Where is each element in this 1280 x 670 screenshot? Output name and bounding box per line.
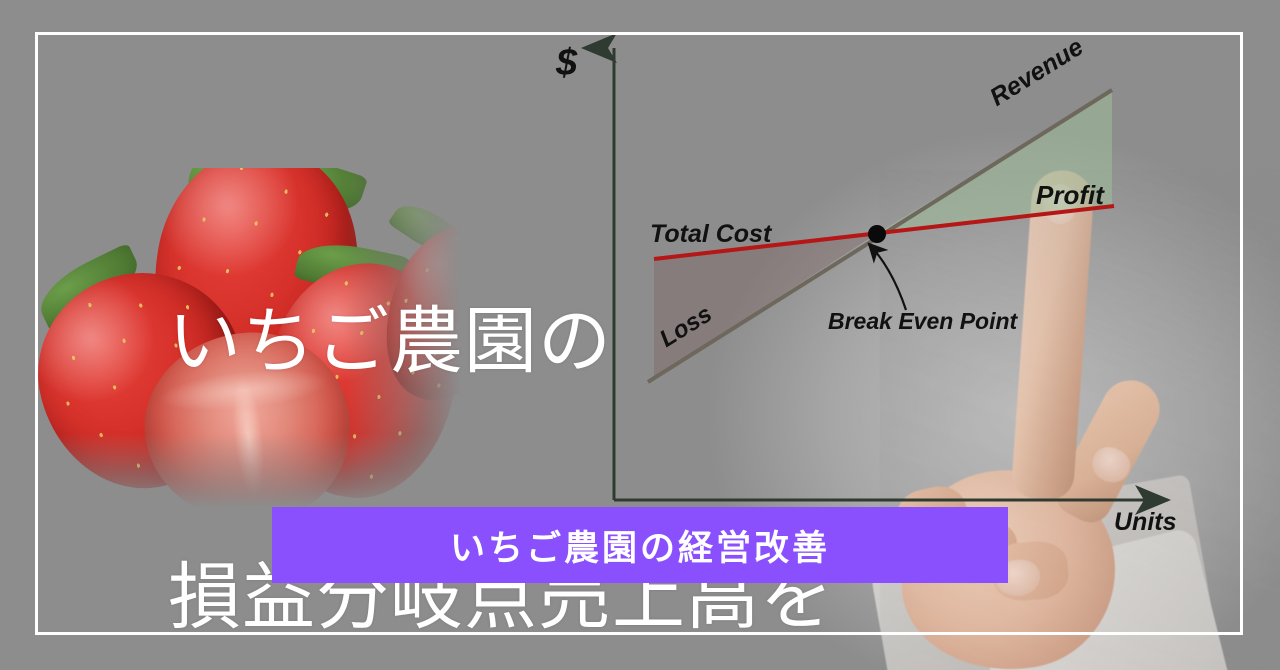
page-title: いちご農園の 損益分岐点売上高を 計算する方法 <box>168 128 834 670</box>
headline-line-1: いちご農園の <box>168 299 834 384</box>
break-even-point-label: Break Even Point <box>828 308 1017 335</box>
y-axis-label: $ <box>556 42 577 85</box>
break-even-leader <box>869 244 906 310</box>
profit-label: Profit <box>1036 180 1104 211</box>
x-axis-label: Units <box>1114 508 1177 537</box>
subtitle-banner: いちご農園の経営改善 <box>272 507 1008 583</box>
subtitle-banner-text: いちご農園の経営改善 <box>450 520 830 571</box>
slide-canvas: $ Units Total Cost Revenue Profit Loss B… <box>0 0 1280 670</box>
break-even-dot <box>868 225 886 243</box>
